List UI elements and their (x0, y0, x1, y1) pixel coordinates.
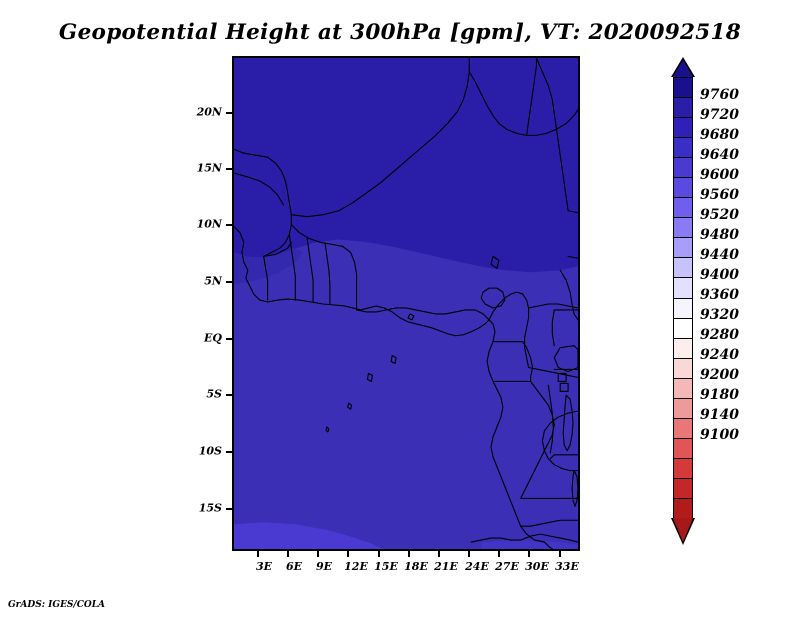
colorbar-tick-label-9180: 9180 (700, 387, 739, 403)
colorbar-swatch-18 (673, 438, 693, 460)
x-tick-5 (408, 551, 410, 557)
y-tick-6 (226, 451, 232, 453)
colorbar-swatch-7 (673, 217, 693, 239)
y-axis-label-EQ: EQ (204, 332, 222, 345)
y-axis-label-10N: 10N (197, 218, 222, 231)
y-tick-1 (226, 168, 232, 170)
colorbar-swatch-11 (673, 298, 693, 320)
colorbar-tick-label-9480: 9480 (700, 227, 739, 243)
colorbar-swatch-14 (673, 358, 693, 380)
colorbar-tick-label-9520: 9520 (700, 207, 739, 223)
colorbar-swatch-20 (673, 478, 693, 500)
y-axis-label-5N: 5N (204, 275, 222, 288)
y-axis-label-15N: 15N (197, 162, 222, 175)
y-axis-label-5S: 5S (206, 388, 222, 401)
x-axis-label-15E: 15E (374, 560, 398, 573)
colorbar-swatch-15 (673, 378, 693, 400)
colorbar-swatch-5 (673, 177, 693, 199)
colorbar-tick-label-9560: 9560 (700, 187, 739, 203)
x-axis-label-6E: 6E (286, 560, 302, 573)
colorbar-swatch-21 (673, 498, 693, 520)
colorbar-swatch-4 (673, 157, 693, 179)
colorbar-tick-label-9140: 9140 (700, 407, 739, 423)
colorbar-swatch-17 (673, 418, 693, 440)
x-axis-label-27E: 27E (495, 560, 519, 573)
y-tick-7 (226, 508, 232, 510)
x-tick-1 (287, 551, 289, 557)
x-tick-4 (378, 551, 380, 557)
x-tick-8 (498, 551, 500, 557)
colorbar-tick-label-9720: 9720 (700, 107, 739, 123)
map-overlay (234, 58, 578, 549)
x-axis-label-33E: 33E (555, 560, 579, 573)
y-axis-label-20N: 20N (197, 106, 222, 119)
x-axis-label-18E: 18E (404, 560, 428, 573)
colorbar-tick-label-9760: 9760 (700, 87, 739, 103)
colorbar-tick-label-9640: 9640 (700, 147, 739, 163)
colorbar-top-arrow (673, 60, 693, 77)
x-axis-label-24E: 24E (465, 560, 489, 573)
colorbar-tick-label-9200: 9200 (700, 367, 739, 383)
x-tick-6 (438, 551, 440, 557)
y-tick-0 (226, 112, 232, 114)
colorbar-swatch-13 (673, 338, 693, 360)
colorbar-swatch-8 (673, 237, 693, 259)
colorbar-tick-label-9680: 9680 (700, 127, 739, 143)
colorbar-swatch-6 (673, 197, 693, 219)
colorbar[interactable] (673, 77, 693, 518)
y-tick-5 (226, 394, 232, 396)
colorbar-swatch-0 (673, 77, 693, 99)
x-axis-label-21E: 21E (434, 560, 458, 573)
colorbar-swatch-1 (673, 97, 693, 119)
x-tick-2 (317, 551, 319, 557)
y-tick-3 (226, 281, 232, 283)
colorbar-swatch-2 (673, 117, 693, 139)
colorbar-tick-label-9600: 9600 (700, 167, 739, 183)
colorbar-swatch-9 (673, 257, 693, 279)
x-axis-label-3E: 3E (256, 560, 272, 573)
x-tick-7 (468, 551, 470, 557)
y-axis-label-10S: 10S (199, 445, 222, 458)
colorbar-tick-label-9100: 9100 (700, 427, 739, 443)
y-tick-4 (226, 338, 232, 340)
colorbar-swatch-3 (673, 137, 693, 159)
colorbar-tick-label-9360: 9360 (700, 287, 739, 303)
colorbar-bottom-arrow (673, 518, 693, 542)
x-tick-10 (559, 551, 561, 557)
footer-attribution: GrADS: IGES/COLA (8, 600, 105, 610)
x-axis-label-30E: 30E (525, 560, 549, 573)
y-axis-label-15S: 15S (199, 502, 222, 515)
colorbar-tick-label-9240: 9240 (700, 347, 739, 363)
colorbar-swatch-16 (673, 398, 693, 420)
colorbar-tick-label-9320: 9320 (700, 307, 739, 323)
colorbar-tick-label-9280: 9280 (700, 327, 739, 343)
x-tick-3 (347, 551, 349, 557)
colorbar-swatch-19 (673, 458, 693, 480)
page-title: Geopotential Height at 300hPa [gpm], VT:… (0, 20, 800, 45)
x-axis-label-12E: 12E (344, 560, 368, 573)
map-plot-area[interactable] (232, 56, 580, 551)
x-tick-0 (257, 551, 259, 557)
colorbar-tick-label-9440: 9440 (700, 247, 739, 263)
colorbar-tick-label-9400: 9400 (700, 267, 739, 283)
colorbar-swatch-12 (673, 318, 693, 340)
x-tick-9 (528, 551, 530, 557)
y-tick-2 (226, 224, 232, 226)
x-axis-label-9E: 9E (316, 560, 332, 573)
colorbar-swatch-10 (673, 277, 693, 299)
